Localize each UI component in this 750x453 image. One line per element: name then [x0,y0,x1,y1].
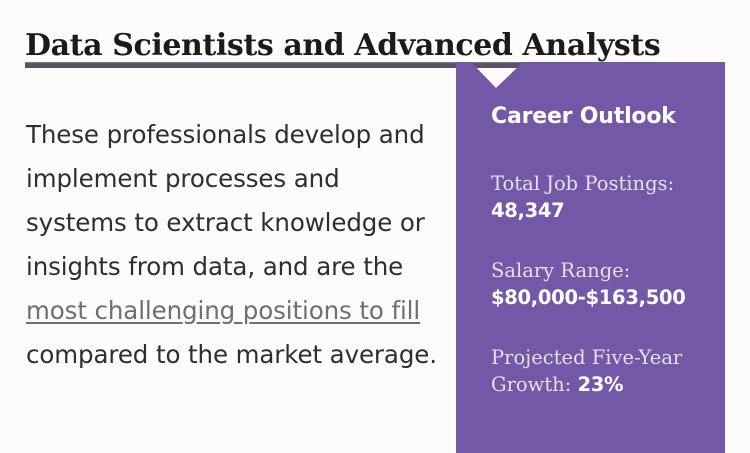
infographic-card: Data Scientists and Advanced Analysts Th… [0,0,750,453]
stat-label-total-job-postings: Total Job Postings: [491,170,716,197]
career-outlook-panel: Career Outlook Total Job Postings: 48,34… [456,62,725,453]
description-text-part-1: These professionals develop and implemen… [26,120,425,281]
stat-projected-growth: Projected Five-Year Growth: 23% [491,344,716,398]
stat-value-salary-range: $80,000-$163,500 [491,286,686,309]
description-text-part-2: compared to the market average. [26,340,437,369]
stat-value-total-job-postings: 48,347 [491,199,564,222]
stat-salary-range: Salary Range: $80,000-$163,500 [491,257,716,311]
career-outlook-content: Career Outlook Total Job Postings: 48,34… [491,62,711,453]
career-outlook-heading: Career Outlook [491,104,676,129]
most-challenging-positions-link[interactable]: most challenging positions to fill [26,296,420,325]
stat-total-job-postings: Total Job Postings: 48,347 [491,170,716,224]
description-paragraph: These professionals develop and implemen… [26,113,441,377]
stat-value-projected-growth: 23% [578,373,624,396]
stat-label-salary-range: Salary Range: [491,257,716,284]
